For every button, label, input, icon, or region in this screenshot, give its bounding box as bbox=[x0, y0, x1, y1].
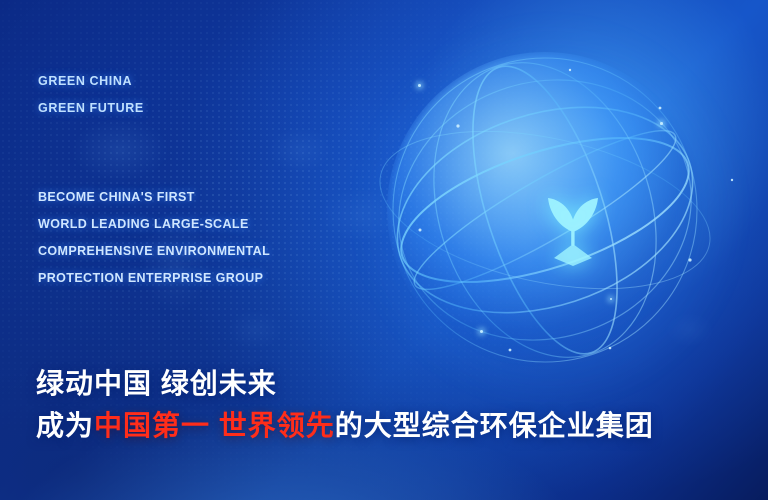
hero-banner: GREEN CHINA GREEN FUTURE BECOME CHINA'S … bbox=[0, 0, 768, 500]
sprout-icon bbox=[528, 170, 618, 270]
eyebrow-text: GREEN CHINA GREEN FUTURE bbox=[38, 68, 144, 122]
headline-suffix: 的大型综合环保企业集团 bbox=[335, 410, 654, 441]
spark-particle bbox=[480, 330, 483, 333]
headline-highlight: 中国第一 世界领先 bbox=[94, 410, 335, 441]
subhead-line-4: PROTECTION ENTERPRISE GROUP bbox=[38, 265, 270, 292]
subhead-line-2: WORLD LEADING LARGE-SCALE bbox=[38, 211, 270, 238]
headline-block: 绿动中国 绿创未来 成为中国第一 世界领先的大型综合环保企业集团 bbox=[36, 364, 736, 448]
subhead-line-3: COMPREHENSIVE ENVIRONMENTAL bbox=[38, 238, 270, 265]
headline-line-2: 成为中国第一 世界领先的大型综合环保企业集团 bbox=[36, 404, 736, 448]
wireframe-globe-graphic bbox=[360, 30, 760, 380]
spark-particle bbox=[418, 84, 421, 87]
spark-particle bbox=[660, 122, 663, 125]
spark-particle bbox=[610, 298, 612, 300]
subhead-line-1: BECOME CHINA'S FIRST bbox=[38, 184, 270, 211]
headline-line-1: 绿动中国 绿创未来 bbox=[36, 364, 736, 404]
eyebrow-line-1: GREEN CHINA bbox=[38, 68, 144, 95]
subhead-text: BECOME CHINA'S FIRST WORLD LEADING LARGE… bbox=[38, 184, 270, 292]
eyebrow-line-2: GREEN FUTURE bbox=[38, 95, 144, 122]
headline-prefix: 成为 bbox=[36, 410, 94, 441]
